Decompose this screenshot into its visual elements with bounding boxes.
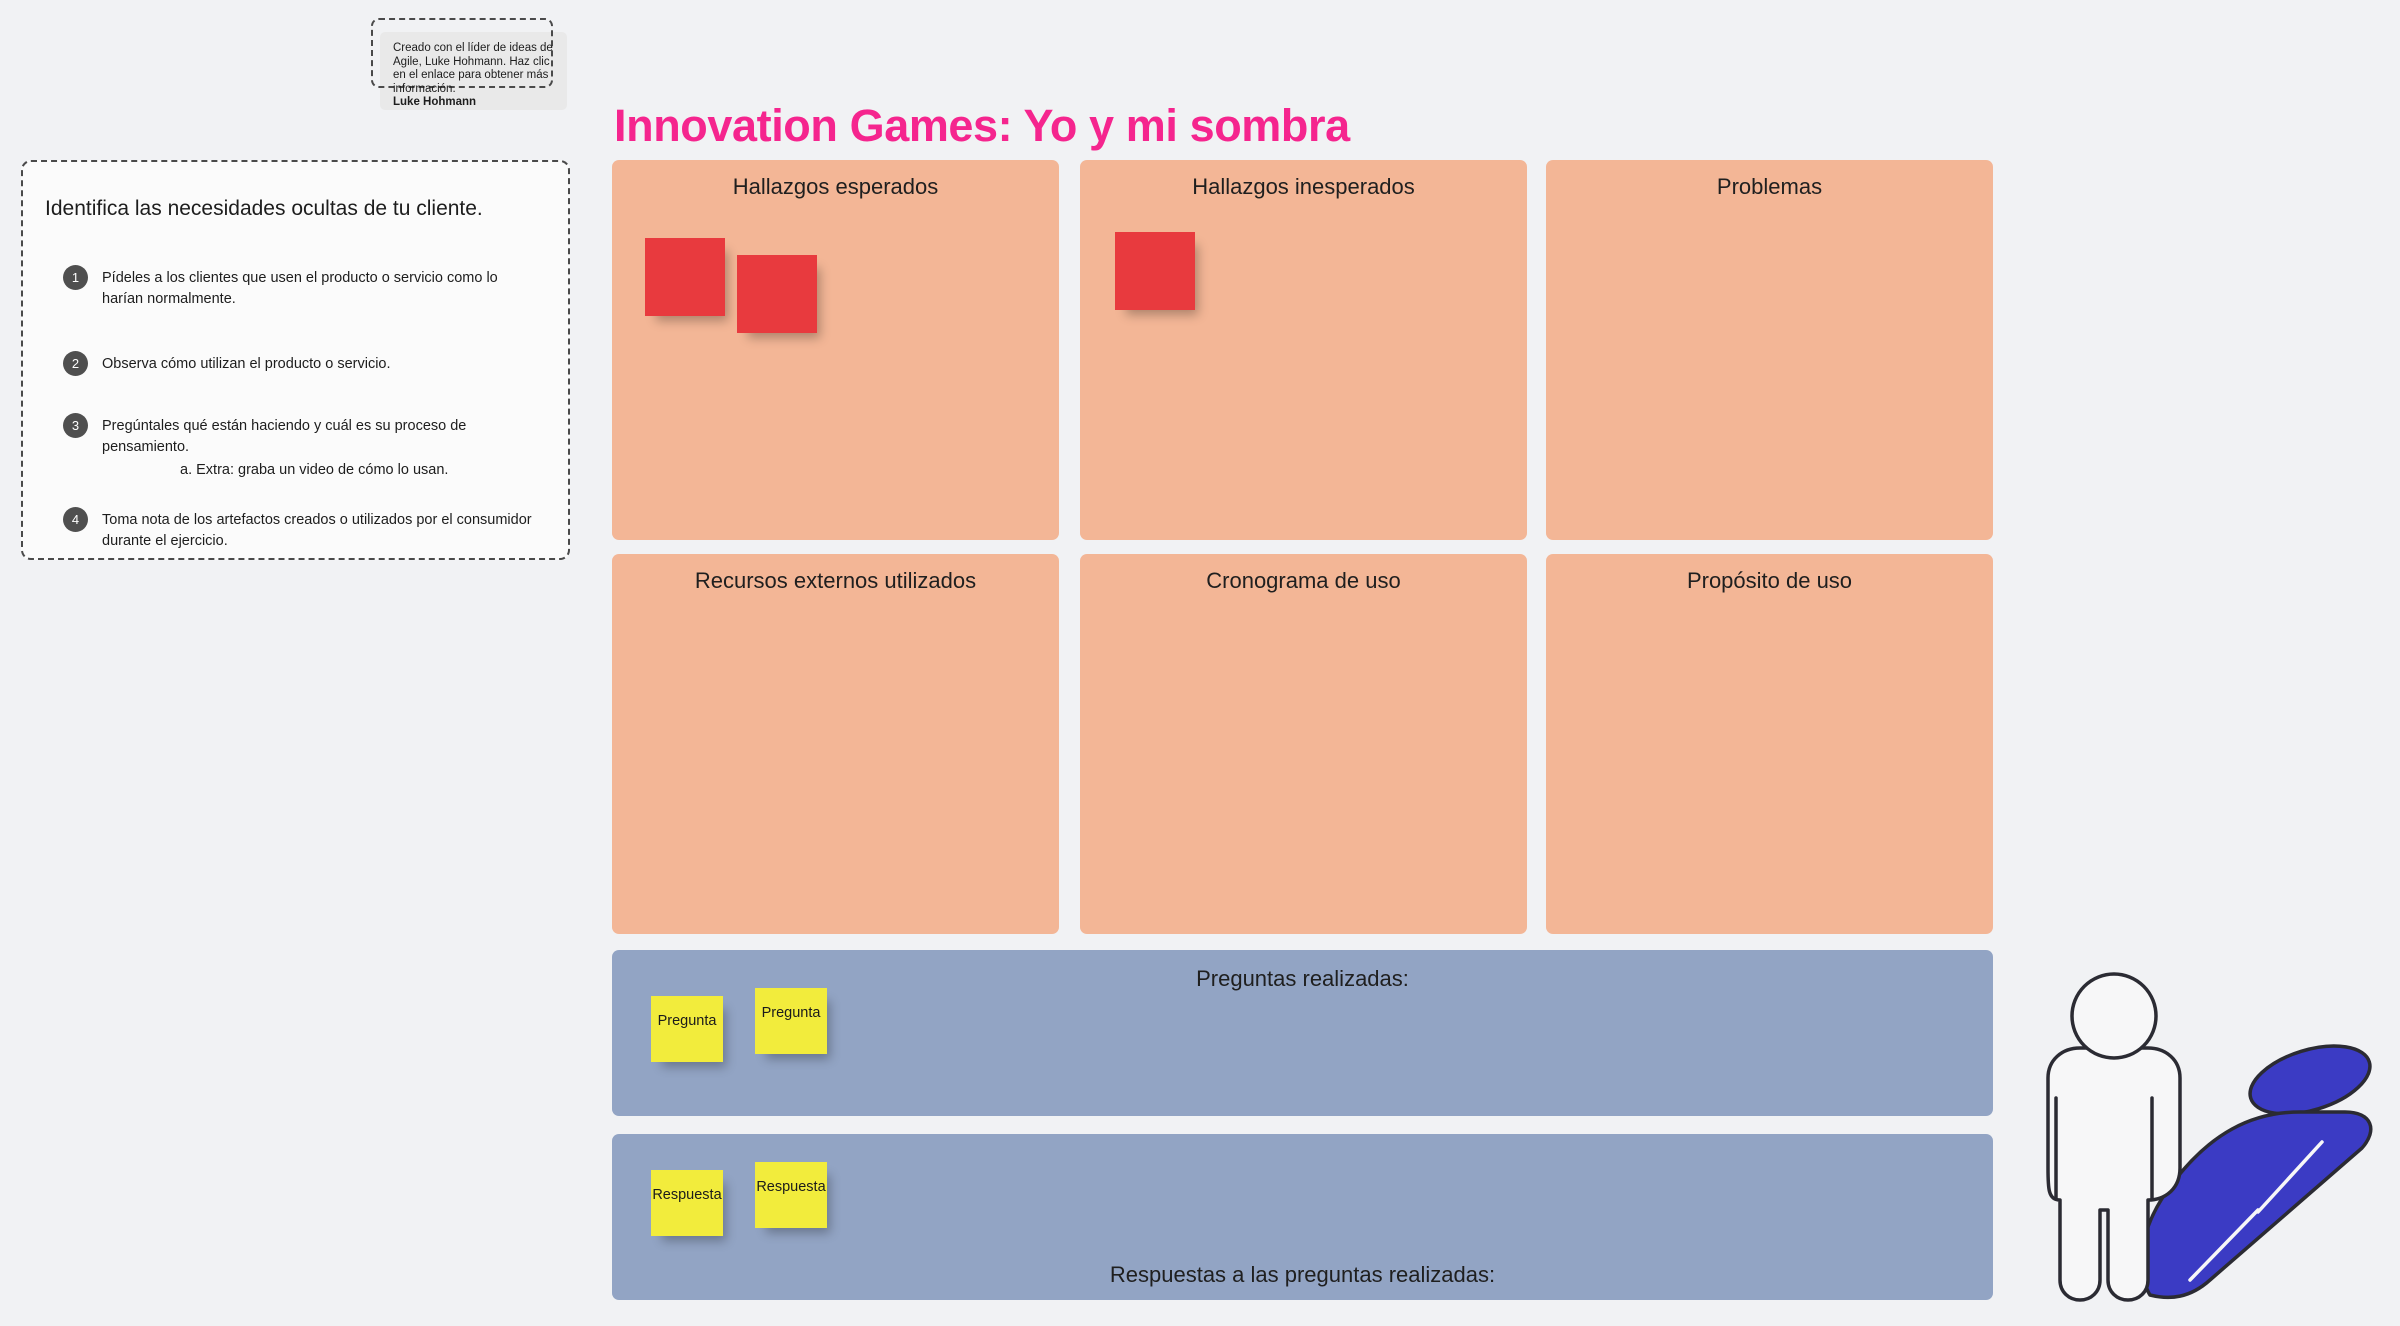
card-title: Hallazgos esperados bbox=[612, 174, 1059, 200]
sticky-note-answer[interactable]: Respuesta bbox=[755, 1162, 827, 1228]
person-head-icon bbox=[2072, 974, 2156, 1058]
sticky-note-question[interactable]: Pregunta bbox=[755, 988, 827, 1054]
sticky-note-label: Pregunta bbox=[658, 1013, 717, 1029]
step-text: Pídeles a los clientes que usen el produ… bbox=[102, 268, 532, 310]
credit-note-author-link[interactable]: Luke Hohmann bbox=[393, 96, 553, 110]
sticky-note-red[interactable] bbox=[645, 238, 725, 316]
page-title: Innovation Games: Yo y mi sombra bbox=[614, 100, 1350, 152]
person-and-shadow-illustration bbox=[2000, 950, 2400, 1321]
step-number-badge: 1 bbox=[63, 265, 88, 290]
credit-note-text: Creado con el líder de ideas de Agile, L… bbox=[393, 42, 553, 110]
card-title: Propósito de uso bbox=[1546, 568, 1993, 594]
step-extra-text: a. Extra: graba un video de cómo lo usan… bbox=[180, 460, 532, 481]
step-text-main: Pregúntales qué están haciendo y cuál es… bbox=[102, 418, 466, 455]
credit-note-body: Creado con el líder de ideas de Agile, L… bbox=[393, 42, 553, 95]
card-title: Problemas bbox=[1546, 174, 1993, 200]
step-text: Pregúntales qué están haciendo y cuál es… bbox=[102, 416, 532, 481]
sticky-note-red[interactable] bbox=[737, 255, 817, 333]
sticky-note-answer[interactable]: Respuesta bbox=[651, 1170, 723, 1236]
instruction-step-1: 1 Pídeles a los clientes que usen el pro… bbox=[63, 268, 553, 310]
card-problemas[interactable]: Problemas bbox=[1546, 160, 1993, 540]
step-text: Toma nota de los artefactos creados o ut… bbox=[102, 510, 532, 552]
panel-title: Respuestas a las preguntas realizadas: bbox=[612, 1262, 1993, 1288]
card-recursos-externos[interactable]: Recursos externos utilizados bbox=[612, 554, 1059, 934]
instructions-heading: Identifica las necesidades ocultas de tu… bbox=[45, 197, 483, 221]
credit-note[interactable]: Creado con el líder de ideas de Agile, L… bbox=[371, 18, 567, 110]
sticky-note-red[interactable] bbox=[1115, 232, 1195, 310]
instructions-panel: Identifica las necesidades ocultas de tu… bbox=[21, 160, 570, 560]
panel-respuestas-realizadas[interactable]: Respuesta Respuesta Respuestas a las pre… bbox=[612, 1134, 1993, 1300]
card-hallazgos-esperados[interactable]: Hallazgos esperados bbox=[612, 160, 1059, 540]
sticky-note-label: Respuesta bbox=[652, 1187, 721, 1203]
card-title: Cronograma de uso bbox=[1080, 568, 1527, 594]
sticky-note-question[interactable]: Pregunta bbox=[651, 996, 723, 1062]
sticky-note-label: Pregunta bbox=[762, 1005, 821, 1021]
card-title: Hallazgos inesperados bbox=[1080, 174, 1527, 200]
instruction-step-3: 3 Pregúntales qué están haciendo y cuál … bbox=[63, 416, 553, 481]
instruction-step-4: 4 Toma nota de los artefactos creados o … bbox=[63, 510, 553, 552]
step-number-badge: 4 bbox=[63, 507, 88, 532]
panel-preguntas-realizadas[interactable]: Preguntas realizadas: Pregunta Pregunta bbox=[612, 950, 1993, 1116]
card-cronograma-de-uso[interactable]: Cronograma de uso bbox=[1080, 554, 1527, 934]
card-hallazgos-inesperados[interactable]: Hallazgos inesperados bbox=[1080, 160, 1527, 540]
step-text: Observa cómo utilizan el producto o serv… bbox=[102, 354, 532, 375]
instruction-step-2: 2 Observa cómo utilizan el producto o se… bbox=[63, 354, 553, 376]
step-number-badge: 2 bbox=[63, 351, 88, 376]
card-proposito-de-uso[interactable]: Propósito de uso bbox=[1546, 554, 1993, 934]
sticky-note-label: Respuesta bbox=[756, 1179, 825, 1195]
card-title: Recursos externos utilizados bbox=[612, 568, 1059, 594]
step-number-badge: 3 bbox=[63, 413, 88, 438]
